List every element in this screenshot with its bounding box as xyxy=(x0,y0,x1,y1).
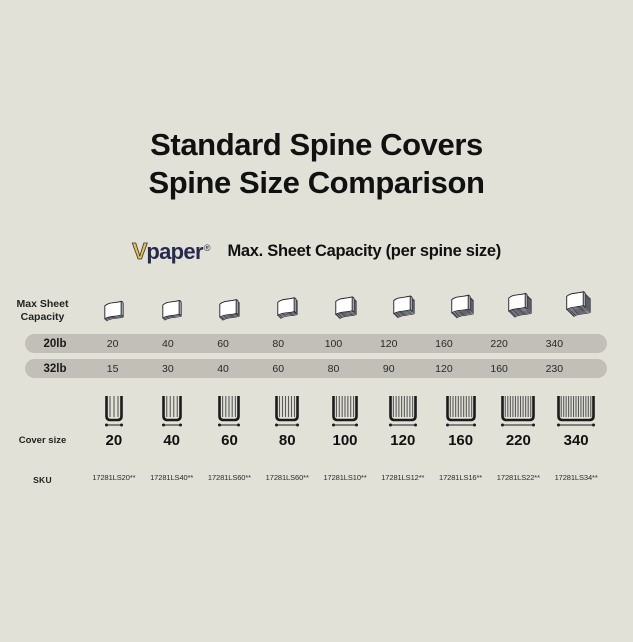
sku-value: 17281LS22** xyxy=(489,473,547,482)
spine-comb-icon xyxy=(489,388,547,430)
cover-size-value: 20 xyxy=(85,432,143,449)
capacity-value-32lb: 60 xyxy=(251,363,306,375)
paper-stack-icon-row xyxy=(85,276,605,328)
capacity-value-20lb: 20 xyxy=(85,338,140,350)
capacity-row-32lb: 32lb 153040608090120160230 xyxy=(25,359,607,378)
spine-comb-icon xyxy=(495,390,541,430)
spine-comb-icon xyxy=(212,390,246,430)
cover-size-label: Cover size xyxy=(0,434,85,447)
paper-stack-icon xyxy=(258,276,316,328)
spine-comb-icon xyxy=(258,388,316,430)
spine-icon-row xyxy=(85,388,605,430)
paper-stack-icon xyxy=(325,290,365,328)
max-sheet-capacity-label: Max Sheet Capacity xyxy=(0,298,85,324)
page-title: Standard Spine Covers Spine Size Compari… xyxy=(0,126,633,202)
max-sheet-capacity-label-line2: Capacity xyxy=(0,311,85,324)
row-label-20lb: 20lb xyxy=(25,338,85,350)
cover-size-value: 120 xyxy=(374,432,432,449)
spine-comb-icon xyxy=(374,388,432,430)
spine-comb-icon xyxy=(551,390,601,430)
title-line-1: Standard Spine Covers xyxy=(0,126,633,164)
sku-value: 17281LS40** xyxy=(143,473,201,482)
spine-comb-icon xyxy=(547,388,605,430)
spine-comb-icon xyxy=(156,390,188,430)
sku-value: 17281LS34** xyxy=(547,473,605,482)
cover-size-row: 20406080100120160220340 xyxy=(85,432,605,449)
spine-comb-icon xyxy=(383,390,423,430)
spine-comb-icon xyxy=(99,390,129,430)
cover-size-value: 40 xyxy=(143,432,201,449)
cover-size-value: 100 xyxy=(316,432,374,449)
capacity-value-32lb: 120 xyxy=(416,363,471,375)
spine-comb-icon xyxy=(269,390,305,430)
sku-value: 17281LS60** xyxy=(258,473,316,482)
cover-size-value: 160 xyxy=(432,432,490,449)
spine-comb-icon xyxy=(85,388,143,430)
capacity-value-32lb: 30 xyxy=(140,363,195,375)
spine-comb-icon xyxy=(432,388,490,430)
brand-row: Vpaper® Max. Sheet Capacity (per spine s… xyxy=(0,240,633,263)
paper-stack-icon xyxy=(489,276,547,328)
capacity-value-20lb: 120 xyxy=(361,338,416,350)
paper-stack-icon xyxy=(94,295,134,328)
sku-value: 17281LS12** xyxy=(374,473,432,482)
sku-value: 17281LS20** xyxy=(85,473,143,482)
paper-stack-icon xyxy=(547,276,605,328)
cover-size-value: 340 xyxy=(547,432,605,449)
sku-value: 17281LS16** xyxy=(432,473,490,482)
paper-stack-icon xyxy=(85,276,143,328)
paper-stack-icon xyxy=(441,288,481,328)
capacity-value-32lb: 90 xyxy=(361,363,416,375)
capacity-value-32lb: 160 xyxy=(472,363,527,375)
sku-label: SKU xyxy=(0,474,85,487)
paper-stack-icon xyxy=(374,276,432,328)
cover-size-value: 60 xyxy=(201,432,259,449)
capacity-row-20lb: 20lb 20406080100120160220340 xyxy=(25,334,607,353)
capacity-value-20lb: 220 xyxy=(472,338,527,350)
paper-stack-icon xyxy=(267,291,307,328)
sku-value: 17281LS10** xyxy=(316,473,374,482)
section-subtitle: Max. Sheet Capacity (per spine size) xyxy=(227,242,500,261)
paper-stack-icon xyxy=(556,284,596,328)
capacity-value-32lb: 40 xyxy=(195,363,250,375)
logo-wordmark: paper xyxy=(146,241,202,263)
capacity-value-20lb: 60 xyxy=(195,338,250,350)
capacity-value-32lb: 15 xyxy=(85,363,140,375)
paper-stack-icon xyxy=(209,293,249,329)
logo-v-mark: V xyxy=(132,240,146,263)
vpaper-logo: Vpaper® xyxy=(132,240,210,263)
spine-comb-icon xyxy=(143,388,201,430)
spine-comb-icon xyxy=(316,388,374,430)
row-label-32lb: 32lb xyxy=(25,363,85,375)
capacity-value-20lb: 160 xyxy=(416,338,471,350)
paper-stack-icon xyxy=(432,276,490,328)
capacity-value-20lb: 340 xyxy=(527,338,582,350)
title-line-2: Spine Size Comparison xyxy=(0,164,633,202)
capacity-value-20lb: 80 xyxy=(251,338,306,350)
spine-comb-icon xyxy=(201,388,259,430)
paper-stack-icon xyxy=(383,289,423,328)
cover-size-value: 80 xyxy=(258,432,316,449)
paper-stack-icon xyxy=(201,276,259,328)
capacity-value-20lb: 100 xyxy=(306,338,361,350)
spine-comb-icon xyxy=(440,390,482,430)
capacity-value-32lb: 80 xyxy=(306,363,361,375)
paper-stack-icon xyxy=(143,276,201,328)
max-sheet-capacity-label-line1: Max Sheet xyxy=(0,298,85,311)
sku-row: 17281LS20**17281LS40**17281LS60**17281LS… xyxy=(85,473,605,482)
paper-stack-icon xyxy=(316,276,374,328)
capacity-value-20lb: 40 xyxy=(140,338,195,350)
capacity-value-32lb: 230 xyxy=(527,363,582,375)
sku-value: 17281LS60** xyxy=(201,473,259,482)
registered-trademark-icon: ® xyxy=(204,243,211,253)
paper-stack-icon xyxy=(152,294,192,328)
cover-size-value: 220 xyxy=(489,432,547,449)
spine-comb-icon xyxy=(326,390,364,430)
paper-stack-icon xyxy=(498,286,538,328)
